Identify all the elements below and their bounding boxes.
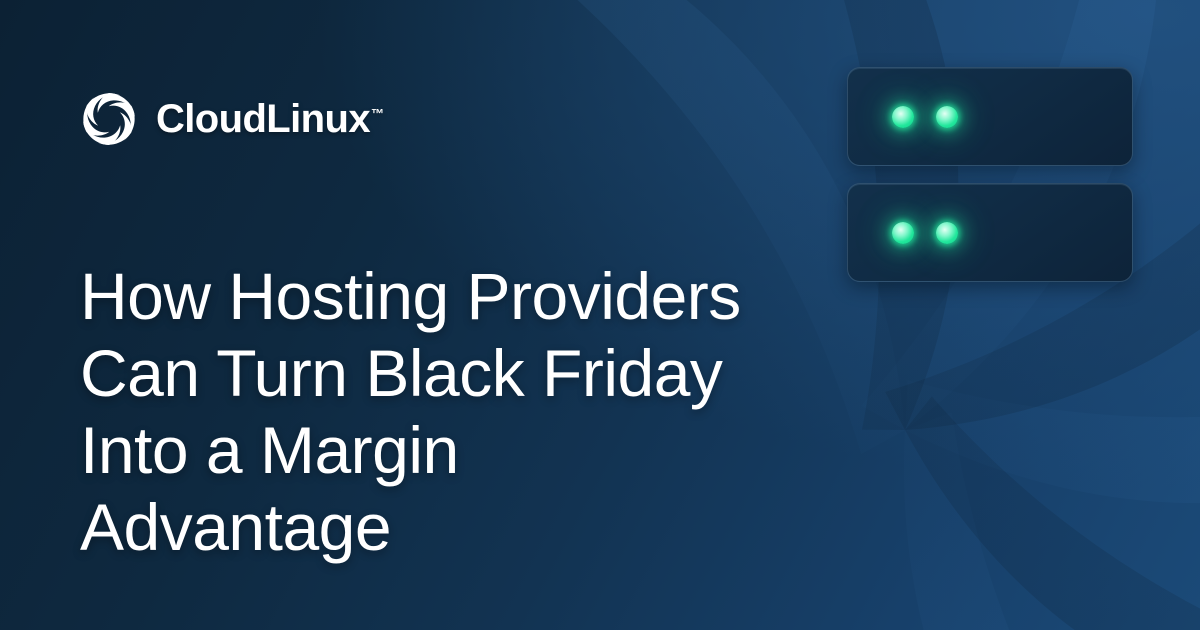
cloudlinux-swirl-logo-icon bbox=[78, 88, 140, 150]
server-rack-unit-1 bbox=[847, 67, 1133, 166]
status-led-icon bbox=[936, 106, 958, 128]
headline-line-2: Can Turn Black Friday bbox=[80, 335, 780, 412]
status-led-icon bbox=[936, 222, 958, 244]
server-rack-unit-2 bbox=[847, 183, 1133, 282]
social-card-canvas: CloudLinux™ How Hosting Providers Can Tu… bbox=[0, 0, 1200, 630]
server-rack-illustration bbox=[847, 67, 1133, 282]
trademark-symbol: ™ bbox=[371, 106, 384, 121]
brand-name-text: CloudLinux bbox=[156, 97, 370, 141]
headline-line-1: How Hosting Providers bbox=[80, 258, 780, 335]
status-led-icon bbox=[892, 222, 914, 244]
headline-line-3: Into a Margin bbox=[80, 412, 780, 489]
led-group-2 bbox=[892, 222, 958, 244]
led-group-1 bbox=[892, 106, 958, 128]
page-title: How Hosting Providers Can Turn Black Fri… bbox=[80, 258, 780, 566]
cloudlinux-wordmark: CloudLinux™ bbox=[156, 99, 384, 139]
headline-line-4: Advantage bbox=[80, 489, 780, 566]
status-led-icon bbox=[892, 106, 914, 128]
cloudlinux-logo-lockup[interactable]: CloudLinux™ bbox=[78, 86, 384, 152]
